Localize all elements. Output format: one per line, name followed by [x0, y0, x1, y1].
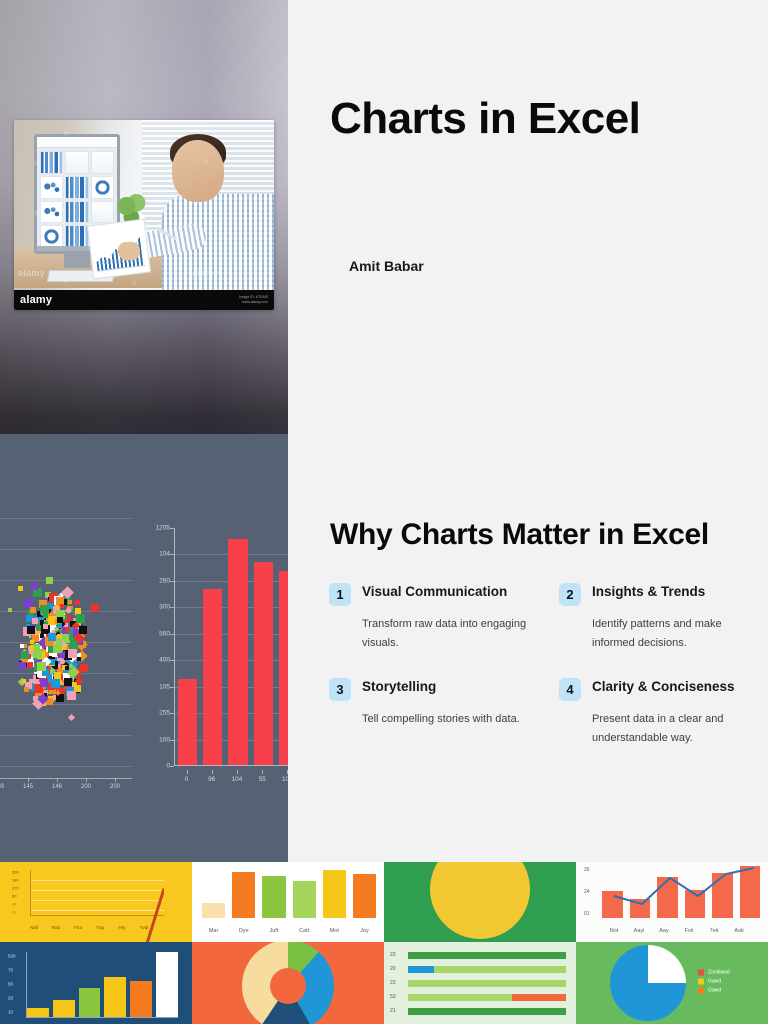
scatter-point [75, 608, 81, 614]
axis-tick [57, 778, 58, 782]
collage-bars [26, 952, 178, 1018]
alamy-logo: alamy [20, 294, 52, 306]
photo-meta: Image ID: K7E6IS www.alamy.com [239, 295, 268, 305]
bar [79, 988, 101, 1017]
photo-widget-donut [91, 176, 114, 199]
scatter-point [75, 600, 80, 605]
legend-label: Zandiawd [708, 970, 730, 976]
collage-combo-chart: 262401NotAayiAayFvti7etiAsti [576, 862, 768, 942]
axis-tick-label: Tug [96, 925, 104, 930]
axis-tick [187, 770, 188, 774]
axis-tick-label: 200 [110, 784, 120, 790]
item-title: Visual Communication [362, 582, 507, 601]
collage-legend: ZandiawdGawdGawd [698, 970, 730, 997]
axis-tick-label: 20 [390, 966, 396, 972]
axis-tick [115, 778, 116, 782]
axis-tick-label: Catt [293, 928, 316, 934]
scatter-point [67, 691, 76, 700]
scatter-point [54, 672, 61, 679]
scatter-point [46, 577, 53, 584]
scatter-point [80, 664, 88, 672]
axis-tick-label: Hry [119, 925, 126, 930]
scatter-point [22, 679, 26, 683]
collage-horizontal-bars: 2320235321 [384, 942, 576, 1024]
scatter-point [64, 678, 72, 686]
legend-item: Gawd [698, 988, 730, 994]
collage-donut-hole [270, 968, 306, 1004]
stock-photo-analyst-at-desk: alamy alamy a a a a a a a a a a alamy [14, 120, 274, 310]
slide-why-charts-matter: 7103145146200200 12051042603005604001052… [0, 434, 768, 862]
item-description: Transform raw data into engaging visuals… [362, 615, 533, 653]
why-visual-panel: 7103145146200200 12051042603005604001052… [0, 434, 288, 862]
why-items-grid: 1 Visual Communication Transform raw dat… [329, 582, 768, 748]
collage-bar-chart-white: MarDyeJuftCattMotJoy [192, 862, 384, 942]
bar [27, 1008, 49, 1017]
scatter-point [21, 651, 29, 659]
scatter-point [19, 662, 26, 669]
axis-tick [170, 766, 174, 767]
photo-widget-bars-4 [65, 225, 88, 248]
bar [156, 952, 178, 1017]
scatter-point [18, 586, 23, 591]
collage-x-labels: MarDyeJuftCattMotJoy [202, 928, 376, 934]
scatter-point [33, 649, 42, 658]
axis-tick-label: 104 [159, 551, 170, 558]
axis-tick-label: 50 [8, 982, 13, 987]
axis-tick-label: Not [610, 928, 619, 934]
author-name: Amit Babar [349, 258, 424, 274]
bar-chart-y-labels: 12051042603005604001052551000 [148, 528, 170, 766]
page-title: Charts in Excel [330, 94, 640, 144]
axis-tick-label: 10 [8, 1010, 13, 1015]
bar-chart-plot-area [174, 528, 288, 766]
photo-widget-kpi-2 [91, 151, 114, 174]
axis-tick-label: Mar [202, 928, 225, 934]
scatter-point [77, 657, 81, 661]
axis-tick-label: 146 [52, 784, 62, 790]
scatter-point [31, 583, 38, 590]
axis-tick-label: Asti [734, 928, 743, 934]
collage-circle [430, 862, 530, 939]
axis-tick-label: 140 [12, 878, 19, 883]
photo-widget-map [40, 176, 63, 199]
axis-tick-label: 23 [390, 952, 396, 958]
axis-tick-label: 255 [159, 710, 170, 717]
axis-line [0, 778, 132, 779]
axis-tick-label: 300 [159, 604, 170, 611]
axis-tick-label: 104 [232, 776, 243, 783]
collage-plot [30, 870, 164, 916]
bar [408, 1008, 566, 1015]
bar [353, 874, 376, 918]
item-header: 4 Clarity & Conciseness [559, 677, 763, 701]
item-number-badge: 2 [559, 583, 581, 606]
bar-segment [408, 966, 434, 973]
axis-tick-label: Raa [52, 925, 60, 930]
item-description: Tell compelling stories with data. [362, 710, 533, 729]
item-title: Clarity & Conciseness [592, 677, 735, 696]
axis-tick-label: Juft [262, 928, 285, 934]
axis-tick-label: 1205 [156, 525, 170, 532]
axis-tick-label: 70 [8, 968, 13, 973]
axis-tick [237, 770, 238, 774]
axis-tick-label: 55 [259, 776, 266, 783]
axis-tick-label: 103 [0, 784, 4, 790]
scatter-point [51, 679, 60, 688]
legend-swatch [698, 988, 704, 994]
axis-tick [262, 770, 263, 774]
bar [202, 903, 225, 918]
scatter-point [30, 607, 36, 613]
axis-tick-label: 23 [390, 980, 396, 986]
scatter-point [37, 662, 46, 671]
scatter-point [20, 644, 24, 648]
bar-chart-x-labels: 09610455100 [174, 770, 288, 790]
bar [53, 1000, 75, 1017]
legend-swatch [698, 970, 704, 976]
scatter-point [68, 649, 77, 658]
bar [262, 876, 285, 918]
scatter-point [53, 644, 62, 653]
photo-widget-bars-3 [65, 201, 88, 224]
axis-tick-label: 370 [12, 886, 19, 891]
axis-tick-label: Joy [353, 928, 376, 934]
axis-tick-label: -1 [12, 910, 16, 915]
bar [228, 539, 247, 765]
axis-tick-label: Fvti [685, 928, 694, 934]
presentation-page: alamy alamy a a a a a a a a a a alamy [0, 0, 768, 1024]
grid-line [0, 766, 132, 767]
list-item: 1 Visual Communication Transform raw dat… [329, 582, 533, 653]
item-number-badge: 1 [329, 583, 351, 606]
bar [104, 977, 126, 1017]
photo-widget-map-2 [40, 201, 63, 224]
item-header: 3 Storytelling [329, 677, 533, 701]
photo-monitor-foot [64, 254, 90, 268]
title-photo-panel: alamy alamy a a a a a a a a a a alamy [0, 0, 288, 434]
slide-title: alamy alamy a a a a a a a a a a alamy [0, 0, 768, 434]
scatter-point [57, 617, 63, 623]
axis-tick-label: 0 [185, 776, 189, 783]
axis-tick [212, 770, 213, 774]
axis-tick-label: -0 [12, 902, 16, 907]
scatter-chart [0, 510, 132, 778]
axis-tick-label: Mot [323, 928, 346, 934]
grid-line [0, 580, 132, 581]
photo-person-hand [118, 242, 140, 260]
bar [293, 881, 316, 918]
axis-tick [28, 778, 29, 782]
photo-person-head [172, 140, 224, 202]
scatter-point [68, 600, 72, 604]
bar [323, 870, 346, 918]
list-item: 4 Clarity & Conciseness Present data in … [559, 677, 763, 748]
item-title: Insights & Trends [592, 582, 705, 601]
item-description: Identify patterns and make informed deci… [592, 615, 763, 653]
list-item: 3 Storytelling Tell compelling stories w… [329, 677, 533, 748]
photo-widget-bars [40, 151, 63, 174]
grid-line [0, 704, 132, 705]
photo-widget-bars-2 [65, 176, 88, 199]
axis-tick-label: Nall [30, 925, 38, 930]
scatter-point [40, 679, 48, 687]
legend-label: Gawd [708, 979, 721, 985]
grid-line [0, 549, 132, 550]
scatter-point [76, 614, 85, 623]
why-content: Why Charts Matter in Excel 1 Visual Comm… [288, 434, 768, 862]
axis-tick-label: 560 [159, 630, 170, 637]
bar [178, 679, 197, 765]
photo-monitor-titlebar [37, 137, 117, 148]
scatter-point [40, 605, 49, 614]
axis-tick-label: 145 [23, 784, 33, 790]
item-number-badge: 4 [559, 678, 581, 701]
title-slide-content: Charts in Excel Amit Babar [288, 0, 768, 434]
collage-line-chart-yellow: 52014037050-0-1NallRaaFruiTugHryTvdi [0, 862, 192, 942]
axis-tick-label: 7eti [710, 928, 719, 934]
axis-tick-label: 520 [8, 954, 16, 959]
scatter-point [79, 626, 87, 634]
photo-source-url: www.alamy.com [239, 300, 268, 305]
axis-tick-label: 24 [584, 889, 590, 895]
axis-tick-label: 260 [159, 577, 170, 584]
axis-tick-label: 520 [12, 870, 19, 875]
bar [254, 562, 273, 765]
scatter-point [24, 687, 29, 692]
collage-trend-line [602, 866, 760, 918]
bar [232, 872, 255, 918]
scatter-point [43, 624, 48, 629]
scatter-point [8, 608, 12, 612]
list-item: 2 Insights & Trends Identify patterns an… [559, 582, 763, 653]
scatter-point [55, 605, 59, 609]
bar-chart: 12051042603005604001052551000 0961045510… [148, 520, 288, 792]
axis-tick-label: Aayi [634, 928, 645, 934]
scatter-point [65, 666, 69, 670]
item-title: Storytelling [362, 677, 436, 696]
bar [203, 589, 222, 765]
bar-segment [512, 994, 566, 1001]
item-number-badge: 3 [329, 678, 351, 701]
scatter-point [27, 626, 35, 634]
legend-item: Gawd [698, 979, 730, 985]
collage-bar-chart-blue: 52070502010 [0, 942, 192, 1024]
item-header: 2 Insights & Trends [559, 582, 763, 606]
axis-tick-label: 01 [584, 911, 590, 917]
scatter-point [60, 604, 64, 608]
photo-watermark-footer: alamy Image ID: K7E6IS www.alamy.com [14, 290, 274, 310]
axis-tick [86, 778, 87, 782]
scatter-point [68, 714, 75, 721]
bar [408, 952, 566, 959]
collage-circle-green [384, 862, 576, 942]
axis-tick-label: 50 [12, 894, 16, 899]
axis-tick-label: 53 [390, 994, 396, 1000]
photo-widget-kpi-1 [65, 151, 88, 174]
axis-tick-label: Frui [74, 925, 82, 930]
legend-label: Gawd [708, 988, 721, 994]
photo-widget-donut-2 [40, 225, 63, 248]
collage-line-path [31, 870, 164, 942]
section-title: Why Charts Matter in Excel [330, 518, 709, 552]
axis-tick-label: 20 [8, 996, 13, 1001]
chart-collage-strip: 52014037050-0-1NallRaaFruiTugHryTvdi Mar… [0, 862, 768, 1024]
bar [279, 571, 288, 765]
axis-tick-label: Tvdi [140, 925, 149, 930]
item-header: 1 Visual Communication [329, 582, 533, 606]
axis-tick-label: 26 [584, 867, 590, 873]
axis-tick-label: 100 [159, 736, 170, 743]
collage-pie-chart: ZandiawdGawdGawd [576, 942, 768, 1024]
grid-line [0, 735, 132, 736]
axis-tick-label: 200 [81, 784, 91, 790]
item-description: Present data in a clear and understandab… [592, 710, 763, 748]
legend-item: Zandiawd [698, 970, 730, 976]
collage-pie [610, 945, 686, 1021]
scatter-point [32, 618, 38, 624]
axis-tick-label: Dye [232, 928, 255, 934]
scatter-point [27, 662, 33, 668]
axis-tick-label: 400 [159, 657, 170, 664]
axis-tick-label: 96 [208, 776, 215, 783]
photo-widget-kpi-3 [91, 201, 114, 224]
bar [130, 981, 152, 1017]
legend-swatch [698, 979, 704, 985]
axis-tick-label: 105 [159, 683, 170, 690]
bar [408, 980, 566, 987]
collage-donut-chart [192, 942, 384, 1024]
collage-bars [202, 868, 376, 918]
axis-tick-label: Aay [659, 928, 668, 934]
scatter-point [65, 627, 70, 632]
grid-line [0, 518, 132, 519]
axis-tick-label: 21 [390, 1008, 396, 1014]
scatter-point [91, 604, 99, 612]
scatter-chart-x-axis: 7103145146200200 [0, 778, 132, 802]
